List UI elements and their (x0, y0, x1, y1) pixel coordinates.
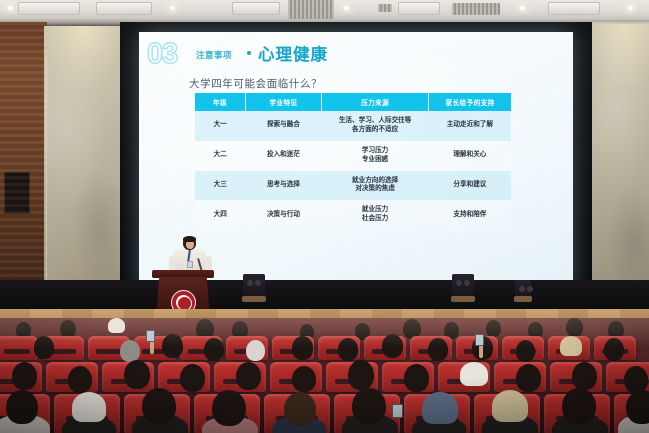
audience-head (124, 360, 150, 389)
audience-head (34, 336, 54, 359)
audience-head (404, 364, 429, 392)
audience-head (338, 338, 358, 361)
audience-head (162, 334, 183, 358)
audience-head (142, 388, 176, 424)
cell-trait: 探索与融合 (246, 111, 322, 141)
column-header-support: 家长给予的支持 (429, 93, 511, 111)
right-stone-column (590, 22, 649, 314)
pressure-line: 生活、学习、人际交往等 (339, 117, 412, 124)
audience-head (626, 390, 649, 424)
slide-title: 心理健康 (258, 41, 328, 65)
table-row: 大二 投入和迷茫 学习压力 专业困惑 理解和关心 (195, 141, 511, 171)
audience-head (352, 388, 386, 424)
screenshot-root: 03 注意事项 心理健康 大学四年可能会面临什么？ 年级 学业特征 压力来源 家… (0, 0, 649, 433)
audience-head (348, 360, 374, 390)
pressure-line: 社会压力 (362, 215, 388, 222)
audience-head (72, 392, 106, 422)
audience-head (292, 366, 316, 392)
audience-head (562, 388, 596, 424)
audience-head (284, 392, 316, 426)
auditorium-seat (0, 336, 38, 360)
cell-grade: 大三 (195, 171, 246, 201)
pressure-line: 各方面的不适应 (352, 126, 398, 133)
pressure-line: 专业困惑 (362, 156, 388, 163)
stage-monitor-speaker (515, 280, 531, 300)
cell-grade: 大一 (195, 111, 246, 141)
cell-trait: 投入和迷茫 (246, 141, 322, 171)
ceiling-light-icon (8, 6, 13, 10)
cell-pressure: 生活、学习、人际交往等 各方面的不适应 (321, 111, 428, 141)
cell-grade: 大二 (195, 141, 246, 171)
audience-head (604, 338, 624, 361)
audience-head (566, 318, 583, 337)
pressure-line: 就业方向的选择 (352, 177, 398, 184)
pressure-line: 就业压力 (362, 206, 388, 213)
audience-head (428, 338, 448, 361)
phone-screen (146, 330, 155, 342)
slide-header: 03 注意事项 心理健康 (139, 38, 573, 68)
column-header-grade: 年级 (195, 93, 246, 111)
ceiling-light-icon (520, 6, 525, 10)
column-header-pressure: 压力来源 (321, 93, 428, 111)
cell-support: 支持和陪伴 (429, 200, 511, 230)
pressure-line: 学习压力 (362, 147, 388, 154)
audience-area (0, 318, 649, 433)
audience-head (246, 340, 265, 361)
cell-trait: 决策与行动 (246, 200, 322, 230)
audience-head (204, 338, 224, 361)
lectern-top (152, 270, 214, 278)
ceiling-vent-icon (452, 3, 500, 15)
audience-head (6, 390, 38, 424)
audience-head (492, 390, 528, 422)
audience-head (292, 336, 313, 360)
audience-head (516, 340, 535, 362)
slide-eyebrow: 注意事项 (196, 49, 232, 61)
cell-pressure: 学习压力 专业困惑 (321, 141, 428, 171)
table-row: 大三 思考与选择 就业方向的选择 对决策的焦虑 分享和建议 (195, 171, 511, 201)
audience-head (236, 362, 261, 390)
audience-head (120, 340, 140, 362)
audience-head (382, 334, 403, 358)
audience-head (572, 362, 597, 390)
grade-pressure-table: 年级 学业特征 压力来源 家长给予的支持 大一 探索与融合 生活、学习、人际交往… (195, 93, 511, 230)
left-stone-column (44, 26, 124, 314)
ceiling-light-icon (170, 6, 175, 10)
audience-head (516, 364, 541, 392)
audience-head (212, 390, 246, 426)
cell-support: 分享和建议 (429, 171, 511, 201)
pressure-line: 对决策的焦虑 (355, 185, 395, 192)
section-number: 03 (147, 40, 177, 69)
wood-wall-panel (0, 22, 47, 312)
cell-grade: 大四 (195, 200, 246, 230)
phone-screen (392, 404, 403, 418)
audience-head (624, 366, 648, 393)
audience-head (180, 364, 205, 392)
audience-head (460, 362, 488, 386)
audience-head (486, 320, 501, 337)
presenter-badge (187, 261, 193, 268)
slide-subtitle: 大学四年可能会面临什么？ (189, 76, 322, 91)
audience-head (68, 366, 92, 393)
ceiling-light-icon (628, 6, 633, 10)
audience-head (422, 392, 458, 424)
ceiling-vent-icon (378, 4, 392, 12)
audience-head (108, 318, 125, 333)
column-header-trait: 学业特征 (246, 93, 322, 111)
ceiling-light-icon (344, 6, 349, 10)
stage-monitor-speaker (452, 274, 474, 300)
audience-head (12, 362, 37, 390)
phone-screen (475, 334, 484, 346)
title-separator-dot (247, 51, 251, 55)
stage-front-wall (0, 280, 649, 312)
presenter-hair (183, 236, 196, 242)
cell-pressure: 就业方向的选择 对决策的焦虑 (321, 171, 428, 201)
cell-support: 主动走近和了解 (429, 111, 511, 141)
table-header-row: 年级 学业特征 压力来源 家长给予的支持 (195, 93, 511, 111)
cell-support: 理解和关心 (429, 141, 511, 171)
wall-sign (4, 172, 30, 214)
cell-trait: 思考与选择 (246, 171, 322, 201)
ceiling-vent-icon (288, 0, 334, 19)
table-row: 大一 探索与融合 生活、学习、人际交往等 各方面的不适应 主动走近和了解 (195, 111, 511, 141)
table-row: 大四 决策与行动 就业压力 社会压力 支持和陪伴 (195, 200, 511, 230)
cell-pressure: 就业压力 社会压力 (321, 200, 428, 230)
stage-monitor-speaker (243, 274, 265, 300)
audience-head (560, 336, 582, 356)
